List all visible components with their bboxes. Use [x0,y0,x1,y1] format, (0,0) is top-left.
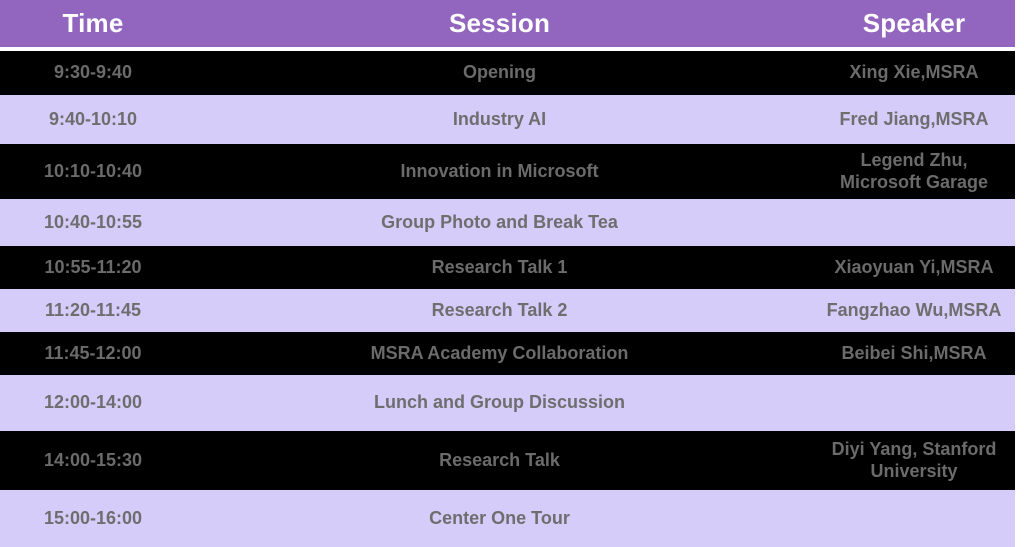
cell-time: 11:20-11:45 [0,300,186,321]
cell-time: 11:45-12:00 [0,343,186,364]
column-header-speaker: Speaker [813,8,1015,39]
table-row: 9:40-10:10 Industry AI Fred Jiang,MSRA [0,95,1015,144]
table-row: 15:00-16:00 Center One Tour [0,490,1015,547]
cell-session: Research Talk [186,450,813,471]
table-header-row: Time Session Speaker [0,0,1015,47]
schedule-table: Time Session Speaker 9:30-9:40 Opening X… [0,0,1015,540]
cell-speaker: Fangzhao Wu,MSRA [813,300,1015,321]
cell-speaker: Diyi Yang, Stanford University [813,439,1015,481]
cell-time: 9:40-10:10 [0,109,186,130]
cell-session: Research Talk 2 [186,300,813,321]
column-header-time: Time [0,8,186,39]
cell-session: Innovation in Microsoft [186,161,813,182]
table-row: 10:10-10:40 Innovation in Microsoft Lege… [0,144,1015,199]
cell-time: 10:55-11:20 [0,257,186,278]
cell-time: 10:40-10:55 [0,212,186,233]
cell-speaker: Legend Zhu, Microsoft Garage [813,150,1015,192]
cell-session: Center One Tour [186,508,813,529]
table-row: 10:40-10:55 Group Photo and Break Tea [0,199,1015,246]
cell-session: Industry AI [186,109,813,130]
table-row: 11:20-11:45 Research Talk 2 Fangzhao Wu,… [0,289,1015,332]
cell-speaker: Fred Jiang,MSRA [813,109,1015,130]
table-row: 9:30-9:40 Opening Xing Xie,MSRA [0,51,1015,95]
table-row: 10:55-11:20 Research Talk 1 Xiaoyuan Yi,… [0,246,1015,289]
cell-speaker: Xiaoyuan Yi,MSRA [813,257,1015,278]
table-row: 14:00-15:30 Research Talk Diyi Yang, Sta… [0,431,1015,490]
column-header-session: Session [186,8,813,39]
cell-session: Opening [186,62,813,83]
cell-speaker: Xing Xie,MSRA [813,62,1015,83]
cell-session: MSRA Academy Collaboration [186,343,813,364]
table-row: 11:45-12:00 MSRA Academy Collaboration B… [0,332,1015,375]
cell-time: 9:30-9:40 [0,62,186,83]
cell-time: 12:00-14:00 [0,392,186,413]
cell-speaker: Beibei Shi,MSRA [813,343,1015,364]
cell-time: 14:00-15:30 [0,450,186,471]
cell-session: Group Photo and Break Tea [186,212,813,233]
cell-session: Research Talk 1 [186,257,813,278]
cell-session: Lunch and Group Discussion [186,392,813,413]
cell-time: 15:00-16:00 [0,508,186,529]
cell-time: 10:10-10:40 [0,161,186,182]
table-row: 12:00-14:00 Lunch and Group Discussion [0,375,1015,431]
